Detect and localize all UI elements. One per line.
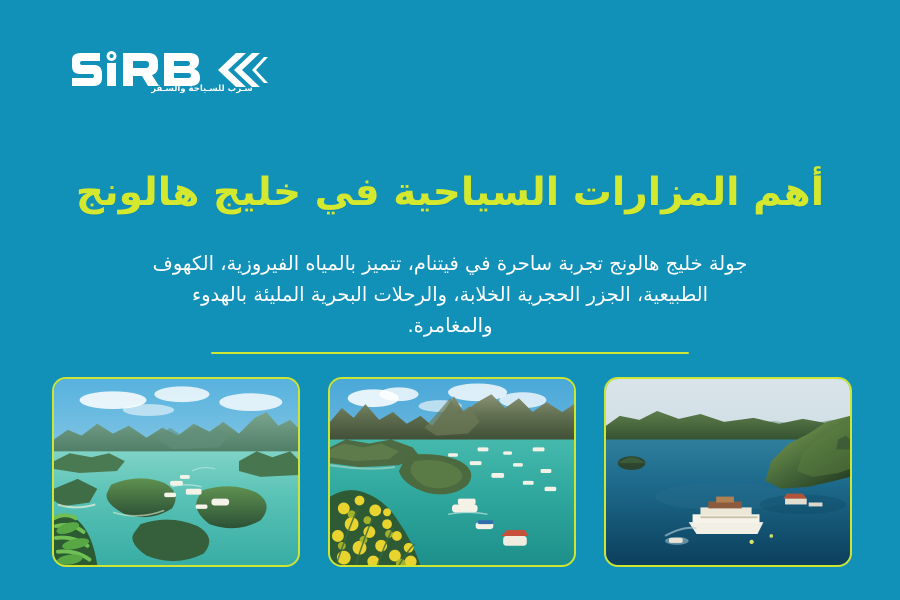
image-gallery <box>52 377 852 567</box>
photo-panorama-karst-islands <box>54 379 298 565</box>
poster-canvas: سـرب للسـياحة والسـفر أهم المزارات السيا… <box>0 0 900 600</box>
photo-cruise-ship-bay <box>606 379 850 565</box>
photo-turquoise-boats-bay <box>330 379 574 565</box>
gallery-card-2[interactable] <box>328 377 576 567</box>
page-title: أهم المزارات السياحية في خليج هالونج <box>0 169 900 217</box>
section-divider <box>211 352 689 354</box>
subtitle-line-3: والمغامرة. <box>47 310 853 341</box>
gallery-card-1[interactable] <box>604 377 852 567</box>
gallery-card-3[interactable] <box>52 377 300 567</box>
brand-tagline: سـرب للسـياحة والسـفر <box>136 84 268 94</box>
brand-logo[interactable]: سـرب للسـياحة والسـفر <box>58 50 268 102</box>
page-subtitle: جولة خليج هالونج تجربة ساحرة في فيتنام، … <box>47 248 853 341</box>
subtitle-line-2: الطبيعية، الجزر الحجرية الخلابة، والرحلا… <box>47 279 853 310</box>
subtitle-line-1: جولة خليج هالونج تجربة ساحرة في فيتنام، … <box>47 248 853 279</box>
